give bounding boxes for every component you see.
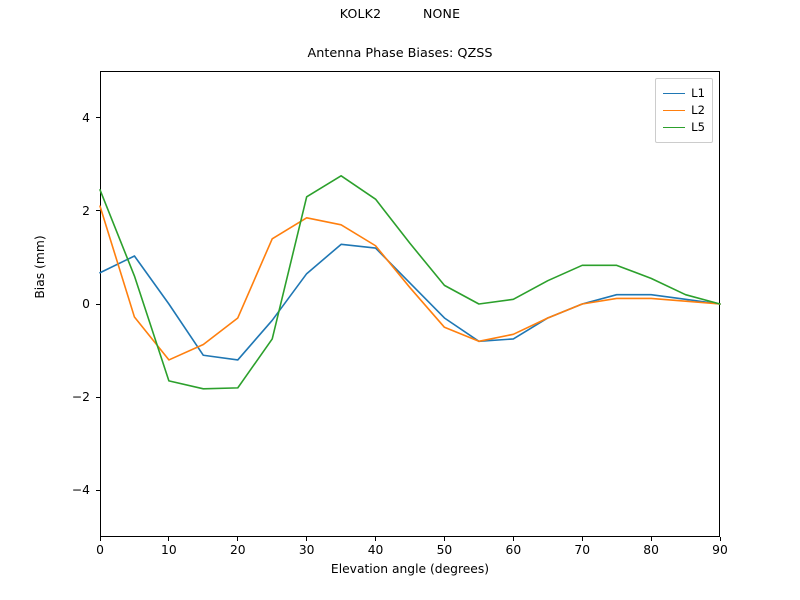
x-tick-label: 40 (368, 543, 384, 557)
x-tick-label: 50 (437, 543, 453, 557)
y-axis-label: Bias (mm) (33, 187, 47, 347)
y-tick-label: −2 (50, 390, 90, 404)
figure-suptitle: KOLK2 NONE (0, 6, 800, 21)
x-tick-mark (306, 537, 307, 541)
y-tick-mark (96, 397, 100, 398)
x-tick-label: 20 (230, 543, 246, 557)
x-tick-label: 90 (712, 543, 728, 557)
legend-item-l5: L5 (663, 119, 705, 136)
axes-title: Antenna Phase Biases: QZSS (0, 46, 800, 61)
chart-lines (100, 71, 720, 537)
legend: L1 L2 L5 (655, 78, 713, 143)
y-tick-mark (96, 117, 100, 118)
x-tick-label: 30 (299, 543, 315, 557)
line-series-l1 (100, 244, 720, 360)
legend-swatch-l1 (663, 93, 685, 94)
y-tick-mark (96, 304, 100, 305)
legend-label-l1: L1 (691, 88, 705, 100)
legend-label-l2: L2 (691, 105, 705, 117)
x-tick-mark (720, 537, 721, 541)
legend-swatch-l2 (663, 110, 685, 111)
y-tick-mark (96, 210, 100, 211)
y-tick-label: −4 (50, 483, 90, 497)
y-tick-label: 2 (50, 204, 90, 218)
x-tick-mark (582, 537, 583, 541)
y-tick-label: 0 (50, 297, 90, 311)
x-tick-mark (375, 537, 376, 541)
figure-canvas: KOLK2 NONE Antenna Phase Biases: QZSS 01… (0, 0, 800, 600)
x-tick-label: 0 (96, 543, 104, 557)
x-tick-mark (651, 537, 652, 541)
x-tick-label: 60 (506, 543, 522, 557)
y-tick-mark (96, 490, 100, 491)
x-tick-mark (513, 537, 514, 541)
x-tick-label: 80 (643, 543, 659, 557)
y-tick-label: 4 (50, 111, 90, 125)
x-tick-mark (444, 537, 445, 541)
x-tick-mark (168, 537, 169, 541)
legend-swatch-l5 (663, 127, 685, 128)
x-tick-mark (100, 537, 101, 541)
x-tick-label: 10 (161, 543, 177, 557)
x-tick-mark (237, 537, 238, 541)
legend-label-l5: L5 (691, 122, 705, 134)
legend-item-l1: L1 (663, 85, 705, 102)
legend-item-l2: L2 (663, 102, 705, 119)
x-axis-label: Elevation angle (degrees) (100, 562, 720, 576)
x-tick-label: 70 (574, 543, 590, 557)
